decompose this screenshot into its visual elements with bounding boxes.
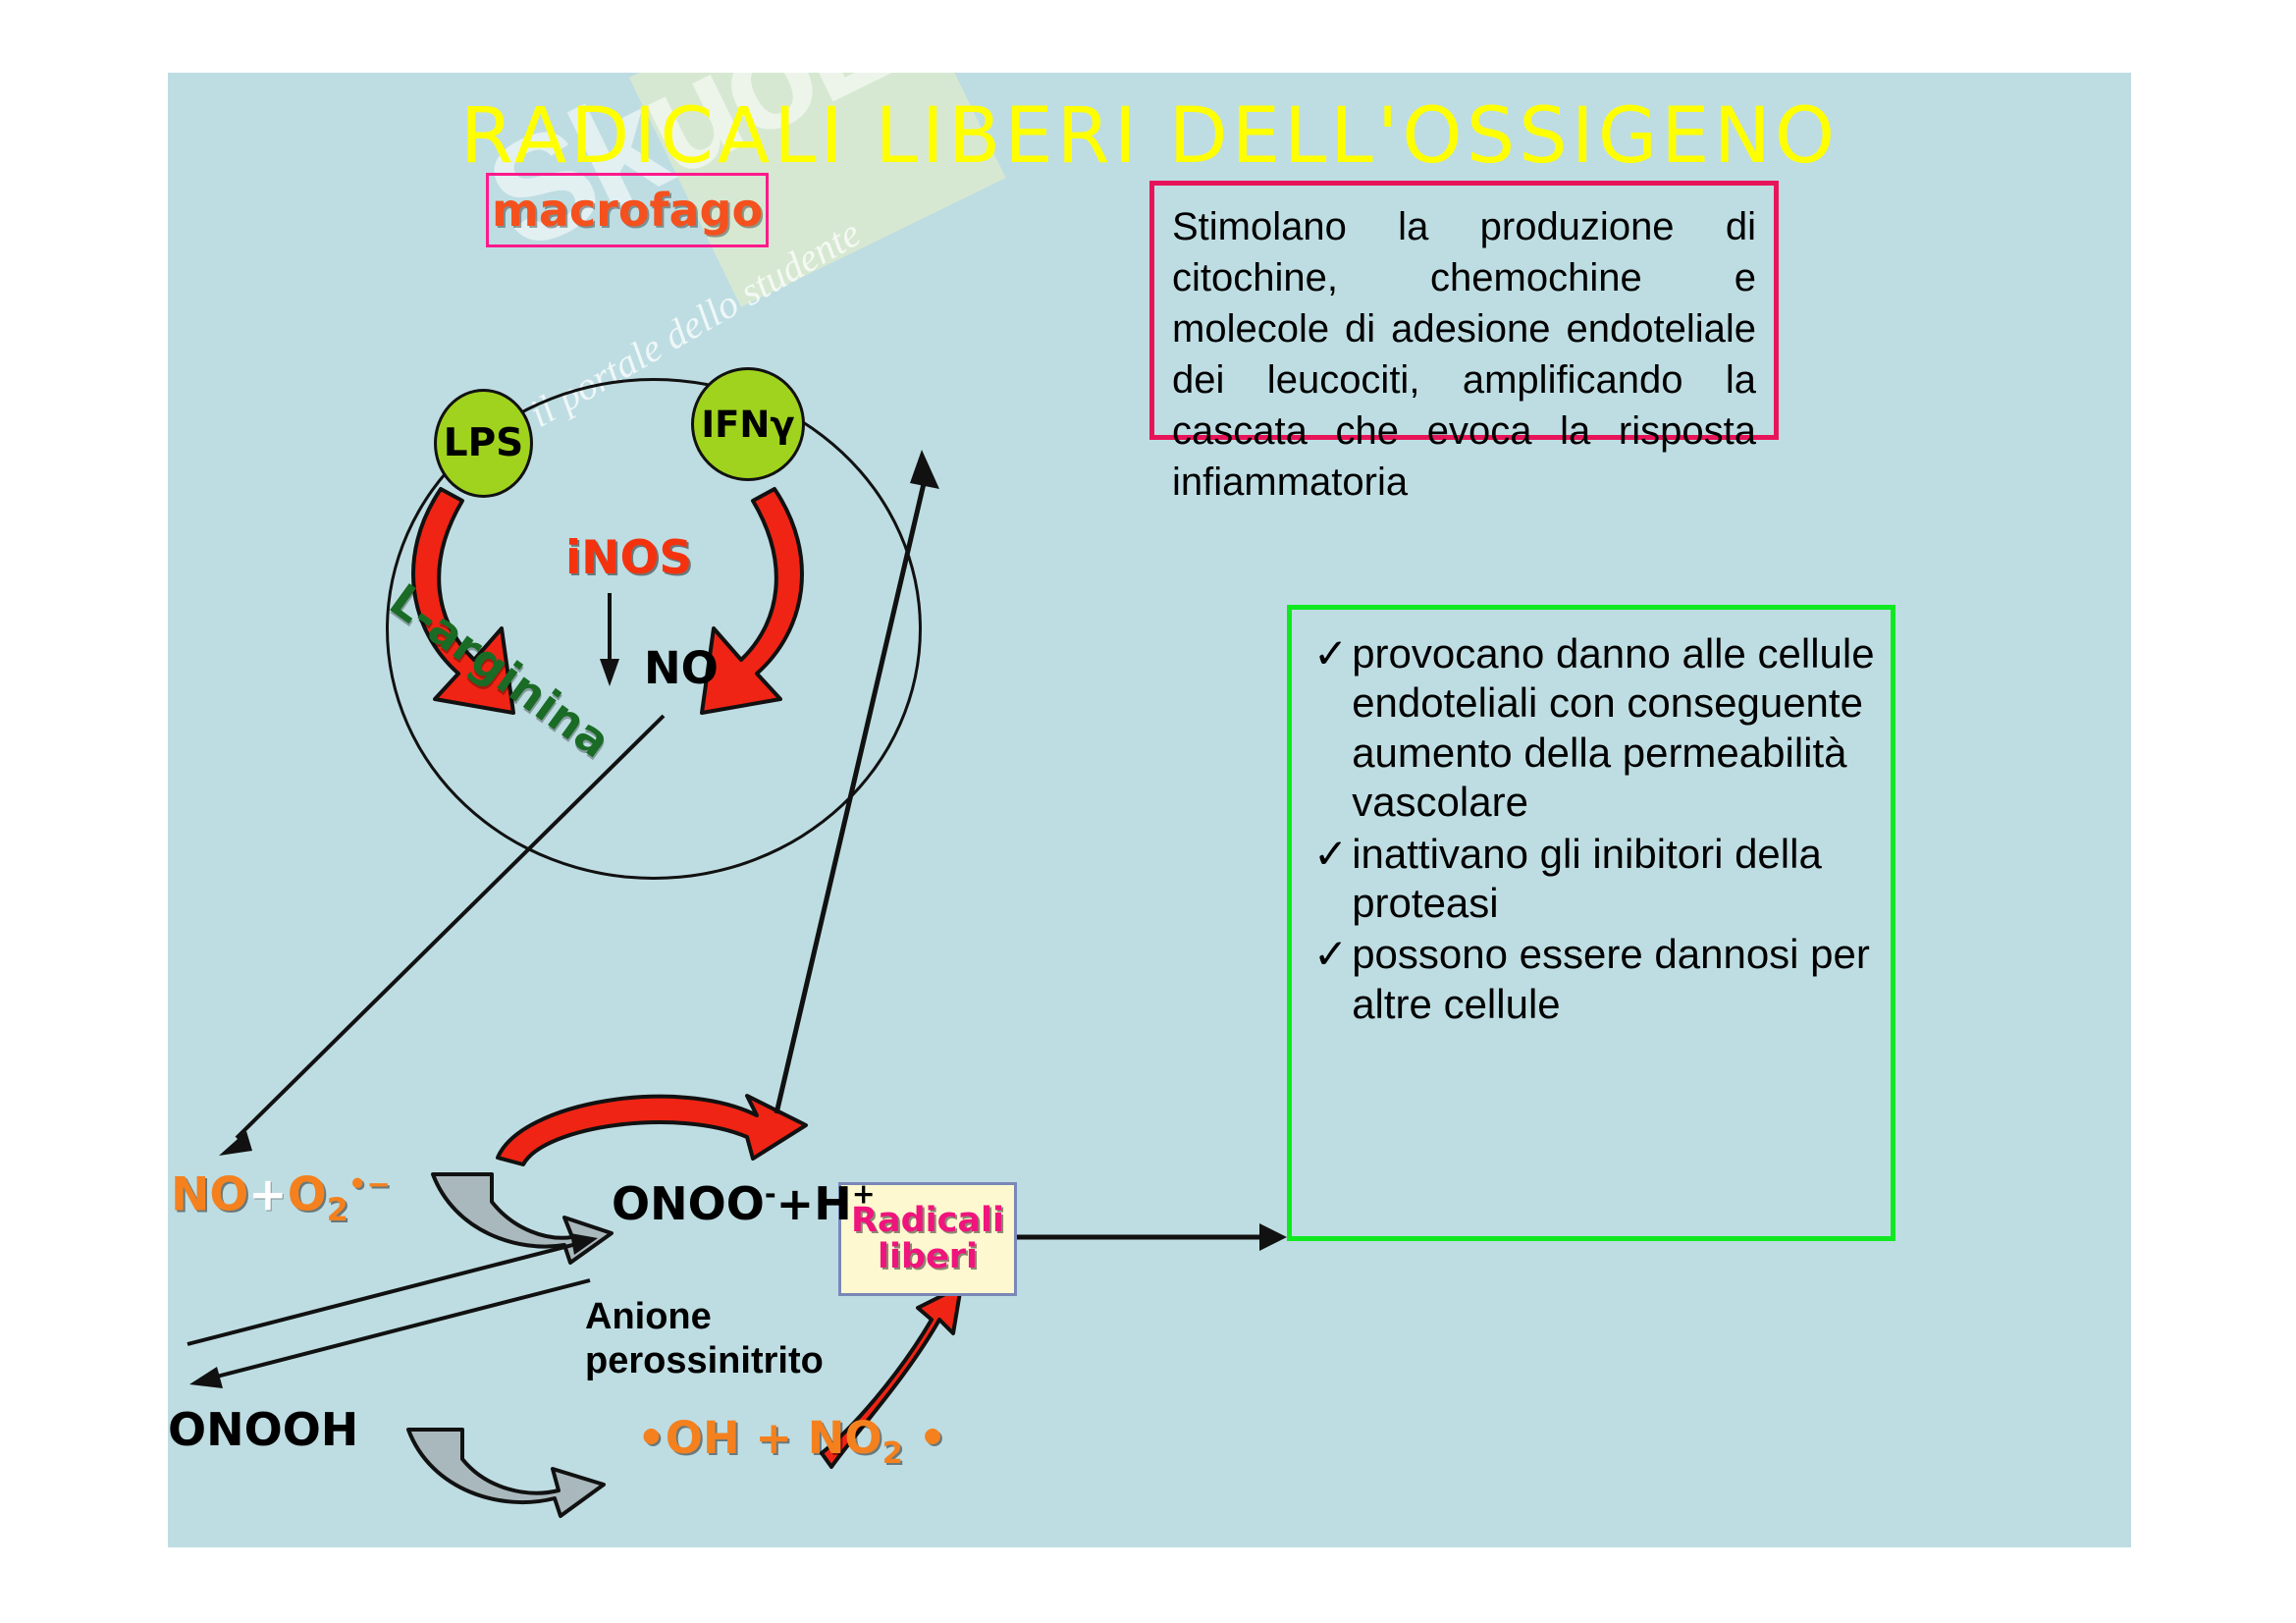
radicali-to-green-box-arrow <box>1014 1223 1287 1251</box>
no2-term: NO <box>808 1412 882 1464</box>
list-item: ✓ inattivano gli inibitori della proteas… <box>1313 830 1881 929</box>
inos-to-no-arrow <box>600 593 619 686</box>
plus-sign: + <box>248 1168 287 1222</box>
oh-term: OH <box>666 1412 740 1464</box>
onoo-charge: - <box>765 1178 776 1211</box>
check-icon: ✓ <box>1313 830 1348 879</box>
list-item: ✓ possono essere dannosi per altre cellu… <box>1313 930 1881 1029</box>
plus-sign: + <box>755 1412 792 1464</box>
no-to-superoxide-arrow <box>219 716 664 1156</box>
peroxynitrite-name-line2: perossinitrito <box>585 1339 824 1383</box>
inos-label: iNOS <box>565 531 692 585</box>
radical-dot-1: • <box>637 1412 666 1464</box>
onoo-onooh-equilibrium-arrows <box>187 1233 598 1388</box>
radicali-line-2: liberi <box>878 1239 978 1275</box>
peroxynitrous-acid-label: ONOOH <box>168 1403 358 1456</box>
peroxynitrite-label: ONOO-+H+ <box>612 1177 876 1230</box>
peroxynitrite-name-line1: Anione <box>585 1295 824 1339</box>
no-term: NO <box>171 1168 248 1222</box>
proton-charge: + <box>852 1178 876 1211</box>
pink-info-text: Stimolano la produzione di citochine, ch… <box>1172 201 1756 508</box>
grey-block-arrow-lower <box>408 1430 604 1516</box>
o2-superscript: •− <box>348 1167 391 1201</box>
onoo-term: ONOO <box>612 1177 765 1230</box>
green-effects-box: ✓ provocano danno alle cellule endotelia… <box>1287 605 1896 1241</box>
screenshot-root: SkuoLa.net il portale dello studente RAD… <box>0 0 2296 1623</box>
no-label: NO <box>644 642 719 694</box>
red-arc-onoo-to-radicali <box>498 1096 806 1164</box>
check-icon: ✓ <box>1313 930 1348 979</box>
hydroxyl-nitrogen-dioxide-label: •OH + NO2 • <box>637 1412 946 1471</box>
peroxynitrite-name: Anione perossinitrito <box>585 1295 824 1383</box>
list-item: ✓ provocano danno alle cellule endotelia… <box>1313 629 1881 828</box>
green-item-text: possono essere dannosi per altre cellule <box>1352 930 1881 1029</box>
plus-sign: + <box>776 1177 815 1230</box>
grey-block-arrow-upper <box>433 1174 612 1263</box>
check-icon: ✓ <box>1313 629 1348 678</box>
radical-dot-2: • <box>919 1412 947 1464</box>
green-item-text: provocano danno alle cellule endoteliali… <box>1352 629 1881 828</box>
o2-term: O <box>288 1168 327 1222</box>
pink-info-box: Stimolano la produzione di citochine, ch… <box>1149 181 1779 440</box>
o2-subscript: 2 <box>327 1191 348 1228</box>
no2-subscript: 2 <box>882 1436 903 1471</box>
proton-term: H <box>814 1177 852 1230</box>
superoxide-reaction-label: NO+O2•− <box>171 1167 391 1228</box>
slide-canvas: SkuoLa.net il portale dello studente RAD… <box>168 73 2131 1547</box>
green-item-text: inattivano gli inibitori della proteasi <box>1352 830 1881 929</box>
